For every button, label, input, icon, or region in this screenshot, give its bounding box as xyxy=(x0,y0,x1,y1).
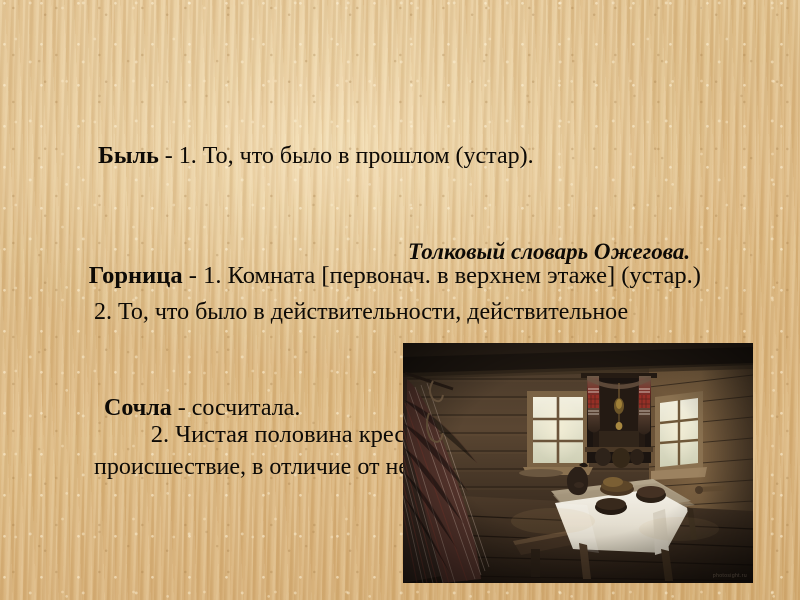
term-sochla: Сочла xyxy=(104,395,172,421)
term-gornitsa: Горница xyxy=(89,262,183,289)
photo-watermark: photosight.ru xyxy=(713,573,747,579)
slide-canvas: Быль - 1. То, что было в прошлом (устар)… xyxy=(0,0,800,600)
definition-entry-sochla: Сочла - сосчитала. xyxy=(68,299,300,517)
term-separator: - xyxy=(172,395,192,421)
definition-text: сосчитала. xyxy=(192,395,301,421)
definition-line: Сочла - сосчитала. xyxy=(68,361,300,455)
source-attribution: Толковый словарь Ожегова. xyxy=(408,237,690,267)
izba-interior-photo: photosight.ru xyxy=(403,343,753,583)
term-separator: - xyxy=(183,262,203,289)
izba-interior-illustration xyxy=(403,343,753,583)
